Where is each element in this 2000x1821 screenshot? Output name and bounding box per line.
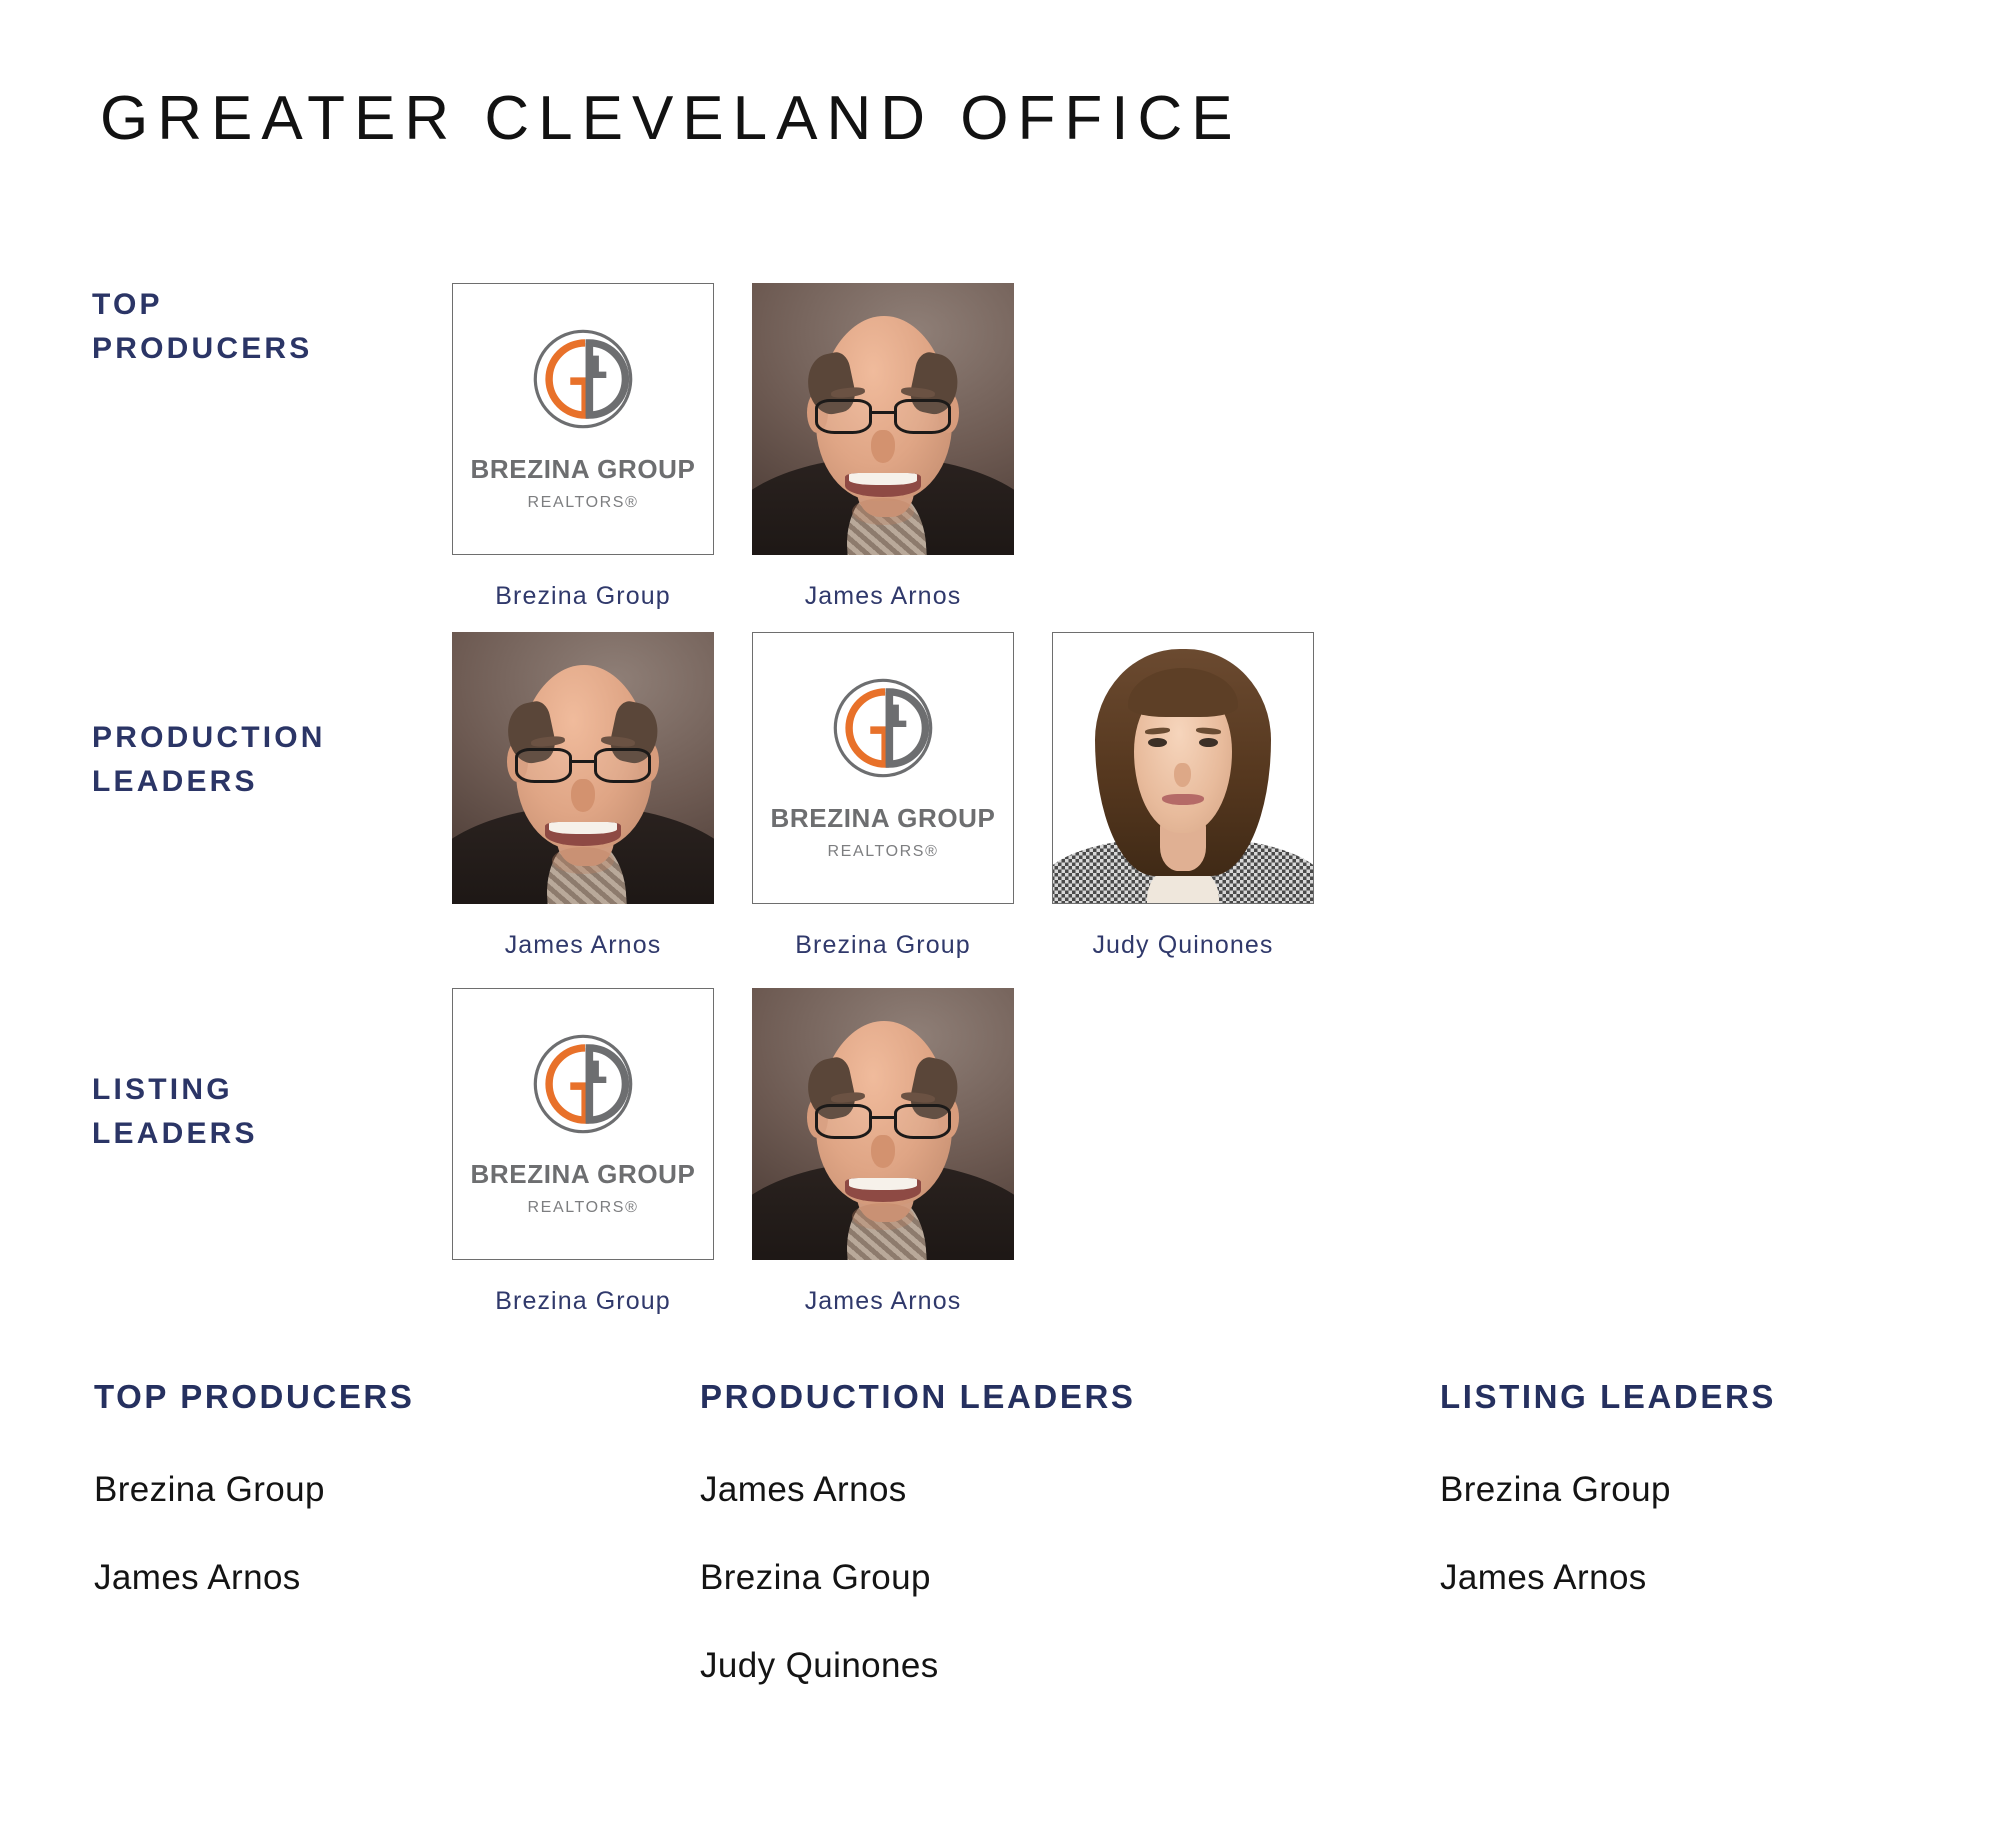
portrait-james-arnos (752, 988, 1014, 1260)
tile-caption: Brezina Group (495, 582, 671, 611)
tile-caption: Judy Quinones (1092, 931, 1273, 960)
portrait-judy-quinones (1053, 633, 1313, 903)
logo-wordmark: BREZINA GROUP (471, 454, 696, 485)
brezina-group-logo: BREZINA GROUP REALTORS® (453, 1031, 713, 1217)
row-tiles-top-producers: BREZINA GROUP REALTORS® Brezina Group (452, 283, 1014, 611)
logo-subtext: REALTORS® (828, 843, 939, 861)
office-awards-page: GREATER CLEVELAND OFFICE TOP PRODUCERS (0, 0, 2000, 1821)
portrait-james-arnos (452, 632, 714, 904)
award-tile-judy-quinones[interactable]: Judy Quinones (1052, 632, 1314, 960)
row-label-line-1: LISTING (92, 1068, 422, 1112)
logo-wordmark: BREZINA GROUP (771, 803, 996, 834)
page-title: GREATER CLEVELAND OFFICE (100, 88, 1242, 150)
row-label-production-leaders: PRODUCTION LEADERS (92, 716, 422, 805)
award-list-top-producers: TOP PRODUCERS Brezina Group James Arnos (94, 1378, 414, 1646)
award-tile-james-arnos[interactable]: James Arnos (752, 988, 1014, 1316)
tile-caption: James Arnos (805, 582, 962, 611)
logo-tile: BREZINA GROUP REALTORS® (452, 988, 714, 1260)
logo-subtext: REALTORS® (528, 1199, 639, 1217)
eyeglasses-icon (815, 399, 951, 434)
list-item: Brezina Group (700, 1558, 1136, 1598)
row-label-line-2: LEADERS (92, 760, 422, 804)
row-label-line-2: PRODUCERS (92, 327, 422, 371)
award-tile-brezina-group[interactable]: BREZINA GROUP REALTORS® Brezina Group (452, 988, 714, 1316)
award-list-production-leaders: PRODUCTION LEADERS James Arnos Brezina G… (700, 1378, 1136, 1734)
list-heading: PRODUCTION LEADERS (700, 1378, 1136, 1416)
brezina-g-monogram-icon (530, 326, 636, 432)
brezina-g-monogram-icon (530, 1031, 636, 1137)
tile-caption: Brezina Group (795, 931, 971, 960)
eyeglasses-icon (515, 748, 651, 783)
list-item: Brezina Group (1440, 1470, 1776, 1510)
logo-tile: BREZINA GROUP REALTORS® (752, 632, 1014, 904)
portrait-tile (752, 988, 1014, 1260)
row-label-line-1: PRODUCTION (92, 716, 422, 760)
row-label-line-1: TOP (92, 283, 422, 327)
row-tiles-listing-leaders: BREZINA GROUP REALTORS® Brezina Group (452, 988, 1014, 1316)
list-item: James Arnos (1440, 1558, 1776, 1598)
row-label-listing-leaders: LISTING LEADERS (92, 1068, 422, 1157)
list-item: James Arnos (94, 1558, 414, 1598)
portrait-james-arnos (752, 283, 1014, 555)
award-tile-james-arnos[interactable]: James Arnos (452, 632, 714, 960)
logo-wordmark: BREZINA GROUP (471, 1159, 696, 1190)
row-label-line-2: LEADERS (92, 1112, 422, 1156)
list-heading: LISTING LEADERS (1440, 1378, 1776, 1416)
list-item: Judy Quinones (700, 1646, 1136, 1686)
list-item: Brezina Group (94, 1470, 414, 1510)
portrait-tile (1052, 632, 1314, 904)
list-heading: TOP PRODUCERS (94, 1378, 414, 1416)
eyeglasses-icon (815, 1104, 951, 1139)
award-tile-james-arnos[interactable]: James Arnos (752, 283, 1014, 611)
brezina-group-logo: BREZINA GROUP REALTORS® (753, 675, 1013, 861)
logo-tile: BREZINA GROUP REALTORS® (452, 283, 714, 555)
tile-caption: James Arnos (805, 1287, 962, 1316)
brezina-g-monogram-icon (830, 675, 936, 781)
brezina-group-logo: BREZINA GROUP REALTORS® (453, 326, 713, 512)
list-item: James Arnos (700, 1470, 1136, 1510)
award-tile-brezina-group[interactable]: BREZINA GROUP REALTORS® Brezina Group (752, 632, 1014, 960)
row-label-top-producers: TOP PRODUCERS (92, 283, 422, 372)
tile-caption: Brezina Group (495, 1287, 671, 1316)
logo-subtext: REALTORS® (528, 494, 639, 512)
award-tile-brezina-group[interactable]: BREZINA GROUP REALTORS® Brezina Group (452, 283, 714, 611)
award-list-listing-leaders: LISTING LEADERS Brezina Group James Arno… (1440, 1378, 1776, 1646)
tile-caption: James Arnos (505, 931, 662, 960)
portrait-tile (452, 632, 714, 904)
row-tiles-production-leaders: James Arnos BREZINA (452, 632, 1314, 960)
portrait-tile (752, 283, 1014, 555)
